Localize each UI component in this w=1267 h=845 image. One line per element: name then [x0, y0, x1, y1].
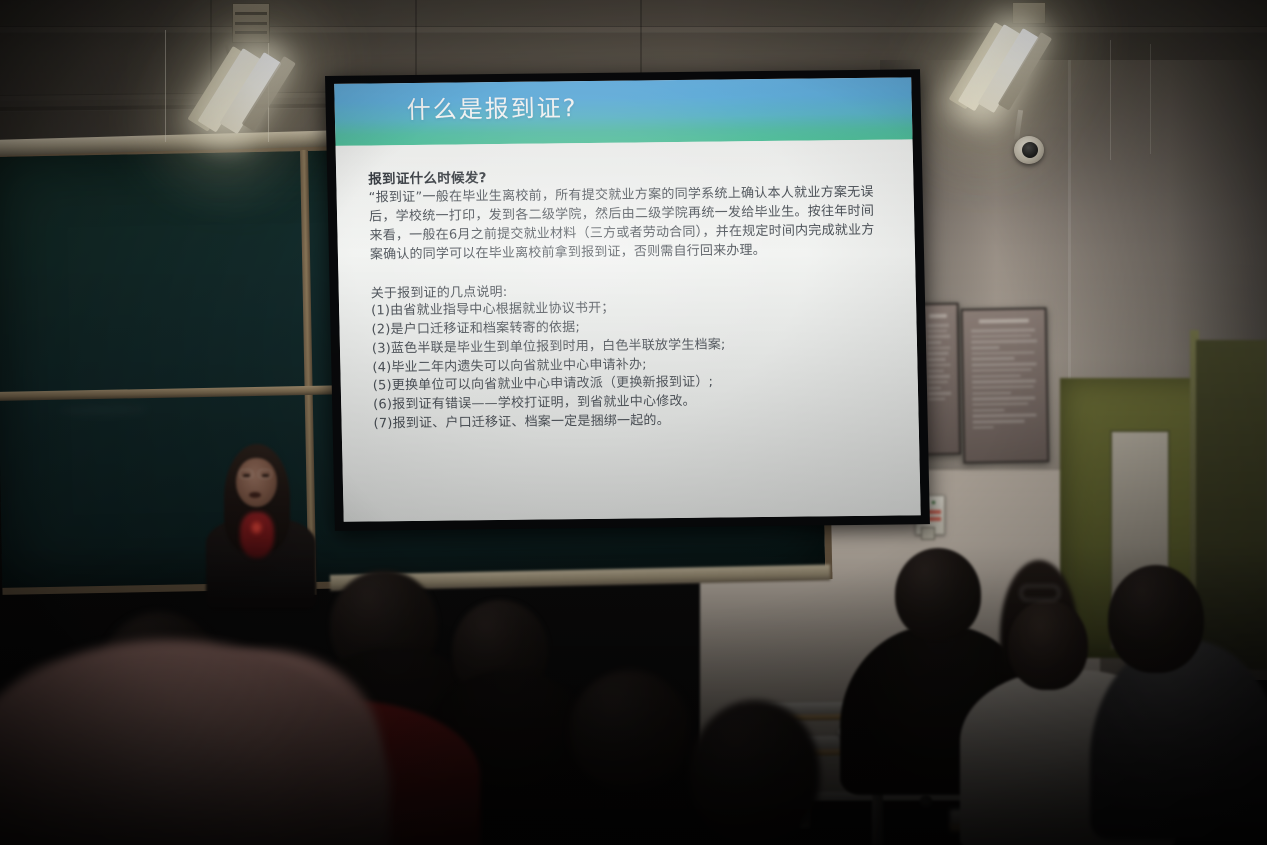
projection-screen: 什么是报到证? 报到证什么时候发? “报到证”一般在毕业生离校前，所有提交就业方… — [325, 69, 930, 531]
door[interactable] — [1196, 340, 1267, 670]
presenter-pin — [251, 521, 262, 534]
ceiling-wire — [1110, 40, 1111, 160]
slide-body: 报到证什么时候发? “报到证”一般在毕业生离校前，所有提交就业方案的同学系统上确… — [336, 139, 921, 521]
ceiling-wire — [1150, 44, 1151, 154]
notice-board-right — [961, 307, 1050, 463]
classroom-scene: 什么是报到证? 报到证什么时候发? “报到证”一般在毕业生离校前，所有提交就业方… — [0, 0, 1267, 845]
slide-banner: 什么是报到证? — [334, 77, 912, 146]
presenter-scarf — [240, 512, 274, 558]
slide-paragraph: “报到证”一般在毕业生离校前，所有提交就业方案的同学系统上确认本人就业方案无误后… — [368, 184, 875, 265]
slide-title: 什么是报到证? — [406, 88, 578, 125]
wall-switch[interactable] — [921, 527, 935, 540]
presenter-face — [236, 458, 277, 507]
presentation-slide: 什么是报到证? 报到证什么时候发? “报到证”一般在毕业生离校前，所有提交就业方… — [334, 77, 921, 521]
screen-frame: 什么是报到证? 报到证什么时候发? “报到证”一般在毕业生离校前，所有提交就业方… — [325, 69, 930, 531]
light-ballast-box — [1012, 2, 1046, 24]
presenter-mouth — [249, 492, 261, 498]
wall-seam — [1068, 60, 1071, 390]
hanger-wire — [165, 30, 166, 142]
